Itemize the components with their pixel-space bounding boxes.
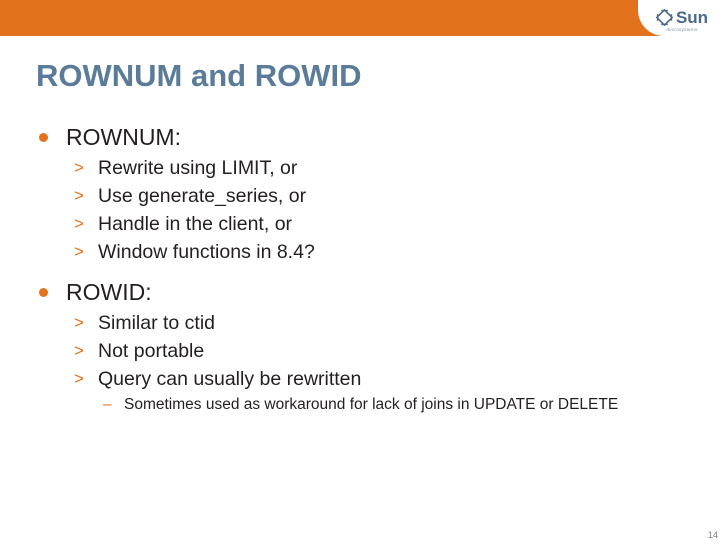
list-item: > Similar to ctid bbox=[66, 310, 696, 336]
section-heading: ROWID: bbox=[66, 277, 696, 307]
slide-body: ROWNUM: > Rewrite using LIMIT, or > Use … bbox=[36, 122, 696, 417]
sun-logo-subtext: microsystems bbox=[666, 27, 697, 32]
list-item-label: Handle in the client, or bbox=[98, 213, 292, 235]
list-item: > Window functions in 8.4? bbox=[66, 239, 696, 265]
bullet-chevron-icon: > bbox=[74, 183, 84, 209]
sun-logo-text: Sun bbox=[676, 9, 708, 26]
bullet-chevron-icon: > bbox=[74, 366, 84, 392]
list-item: > Use generate_series, or bbox=[66, 183, 696, 209]
page-number: 14 bbox=[708, 530, 718, 540]
list-item-label: Rewrite using LIMIT, or bbox=[98, 157, 297, 179]
bullet-chevron-icon: > bbox=[74, 239, 84, 265]
list-item-label: Use generate_series, or bbox=[98, 185, 306, 207]
bullet-list-level2: > Similar to ctid > Not portable > Query… bbox=[66, 310, 696, 415]
list-item: ROWID: > Similar to ctid > Not portable … bbox=[36, 277, 696, 415]
bullet-dash-icon: – bbox=[103, 394, 112, 415]
bullet-list-level2: > Rewrite using LIMIT, or > Use generate… bbox=[66, 155, 696, 265]
bullet-list-level3: – Sometimes used as workaround for lack … bbox=[98, 394, 696, 415]
bullet-chevron-icon: > bbox=[74, 211, 84, 237]
list-item: ROWNUM: > Rewrite using LIMIT, or > Use … bbox=[36, 122, 696, 265]
list-item-label: Window functions in 8.4? bbox=[98, 241, 315, 263]
bullet-dot-icon bbox=[39, 133, 48, 142]
bullet-chevron-icon: > bbox=[74, 338, 84, 364]
list-item: > Not portable bbox=[66, 338, 696, 364]
bullet-chevron-icon: > bbox=[74, 155, 84, 181]
list-item: – Sometimes used as workaround for lack … bbox=[98, 394, 696, 415]
bullet-list-level1: ROWNUM: > Rewrite using LIMIT, or > Use … bbox=[36, 122, 696, 415]
list-item-label: Sometimes used as workaround for lack of… bbox=[124, 396, 618, 413]
slide-title: ROWNUM and ROWID bbox=[36, 58, 361, 94]
slide: Sun microsystems ROWNUM and ROWID ROWNUM… bbox=[0, 0, 728, 546]
list-item-label: Not portable bbox=[98, 340, 204, 362]
list-item: > Query can usually be rewritten – Somet… bbox=[66, 366, 696, 415]
bullet-chevron-icon: > bbox=[74, 310, 84, 336]
list-item: > Rewrite using LIMIT, or bbox=[66, 155, 696, 181]
sun-diamond-icon bbox=[656, 9, 673, 26]
bullet-dot-icon bbox=[39, 288, 48, 297]
sun-logo: Sun microsystems bbox=[644, 5, 720, 35]
header-band bbox=[0, 0, 728, 36]
sun-logo-main: Sun bbox=[656, 9, 708, 26]
list-item: > Handle in the client, or bbox=[66, 211, 696, 237]
section-heading: ROWNUM: bbox=[66, 122, 696, 152]
list-item-label: Query can usually be rewritten bbox=[98, 368, 361, 390]
list-item-label: Similar to ctid bbox=[98, 312, 215, 334]
